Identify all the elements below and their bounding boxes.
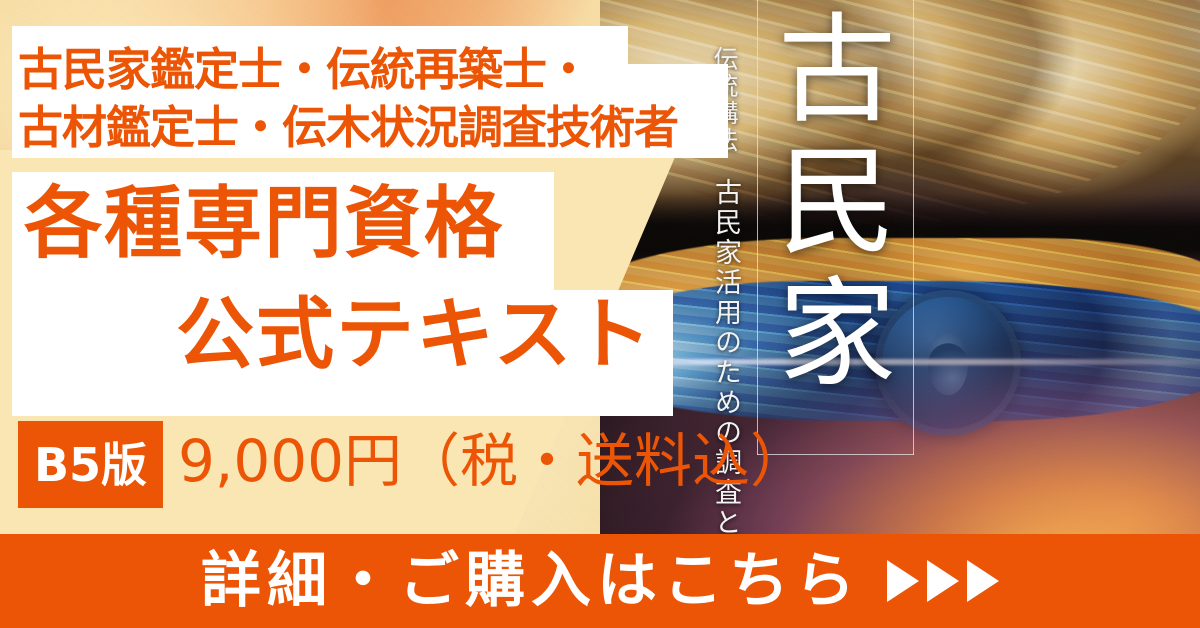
chevron-right-icon-1 xyxy=(887,560,919,602)
headline-line-2: 古材鑑定士・伝木状況調査技術者 xyxy=(18,91,678,156)
main-title-line-1: 各種専門資格 xyxy=(24,185,504,263)
format-badge-label: B5版 xyxy=(34,442,147,488)
cover-title-char-2: 民 xyxy=(762,136,912,268)
cta-arrow-group xyxy=(887,560,999,602)
cta-label: 詳細・ご購入はこちら xyxy=(201,551,861,611)
headline-line-1: 古民家鑑定士・伝統再築士・ xyxy=(18,33,590,98)
price-text: 9,000円（税・送料込） xyxy=(178,432,808,490)
cover-main-title: 古 民 家 xyxy=(762,4,912,400)
cover-title-char-1: 古 xyxy=(762,4,912,136)
cover-title-frame-right xyxy=(913,0,914,455)
cta-bar[interactable]: 詳細・ご購入はこちら xyxy=(0,534,1200,628)
chevron-right-icon-2 xyxy=(927,560,959,602)
cover-title-frame-left xyxy=(757,0,758,455)
format-badge: B5版 xyxy=(18,421,163,508)
main-title-line-2: 公式テキスト xyxy=(176,296,654,374)
chevron-right-icon-3 xyxy=(967,560,999,602)
promo-banner: 伝統構法 古民家活用のための調査と再生の 古 民 家 古民家鑑定士・伝統再築士・… xyxy=(0,0,1200,628)
cover-title-char-3: 家 xyxy=(762,268,912,400)
